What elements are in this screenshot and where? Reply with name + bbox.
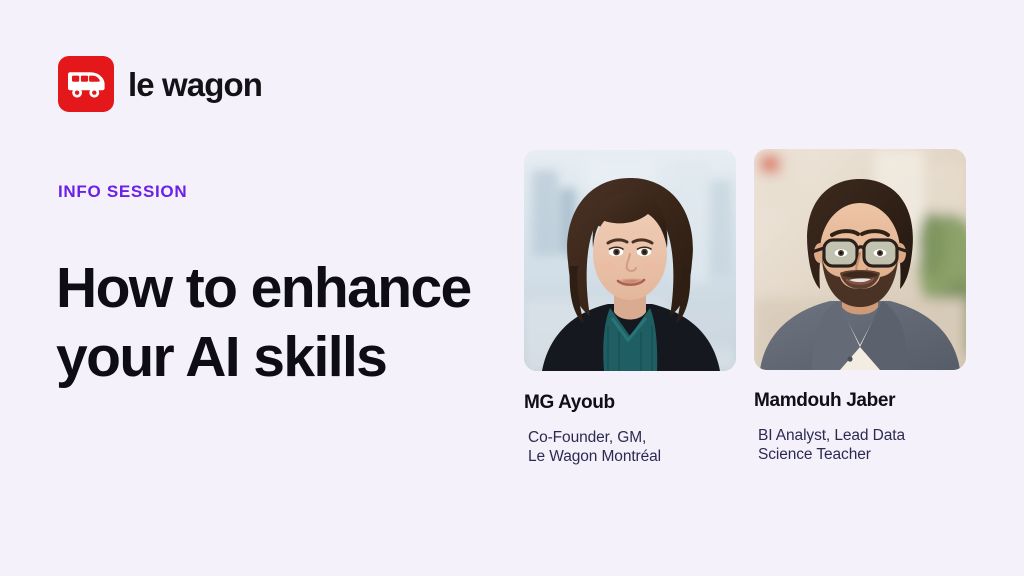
speaker-name: MG Ayoub bbox=[524, 392, 736, 415]
speaker-card: Mamdouh Jaber BI Analyst, Lead Data Scie… bbox=[754, 149, 966, 464]
info-session-slide: le wagon INFO SESSION How to enhance you… bbox=[0, 0, 1024, 576]
speaker-card: MG Ayoub Co-Founder, GM, Le Wagon Montré… bbox=[524, 150, 736, 466]
eyebrow-label: INFO SESSION bbox=[58, 183, 187, 202]
speaker-role: Co-Founder, GM, Le Wagon Montréal bbox=[528, 428, 736, 466]
le-wagon-bus-icon bbox=[58, 56, 114, 112]
speaker-name: Mamdouh Jaber bbox=[754, 390, 966, 413]
speaker-photo bbox=[754, 149, 966, 370]
speaker-list: MG Ayoub Co-Founder, GM, Le Wagon Montré… bbox=[524, 150, 966, 466]
speaker-role: BI Analyst, Lead Data Science Teacher bbox=[758, 426, 966, 464]
speaker-photo bbox=[524, 150, 736, 371]
le-wagon-logo[interactable]: le wagon bbox=[58, 56, 262, 112]
le-wagon-wordmark: le wagon bbox=[128, 68, 262, 101]
page-title: How to enhance your AI skills bbox=[56, 254, 486, 392]
